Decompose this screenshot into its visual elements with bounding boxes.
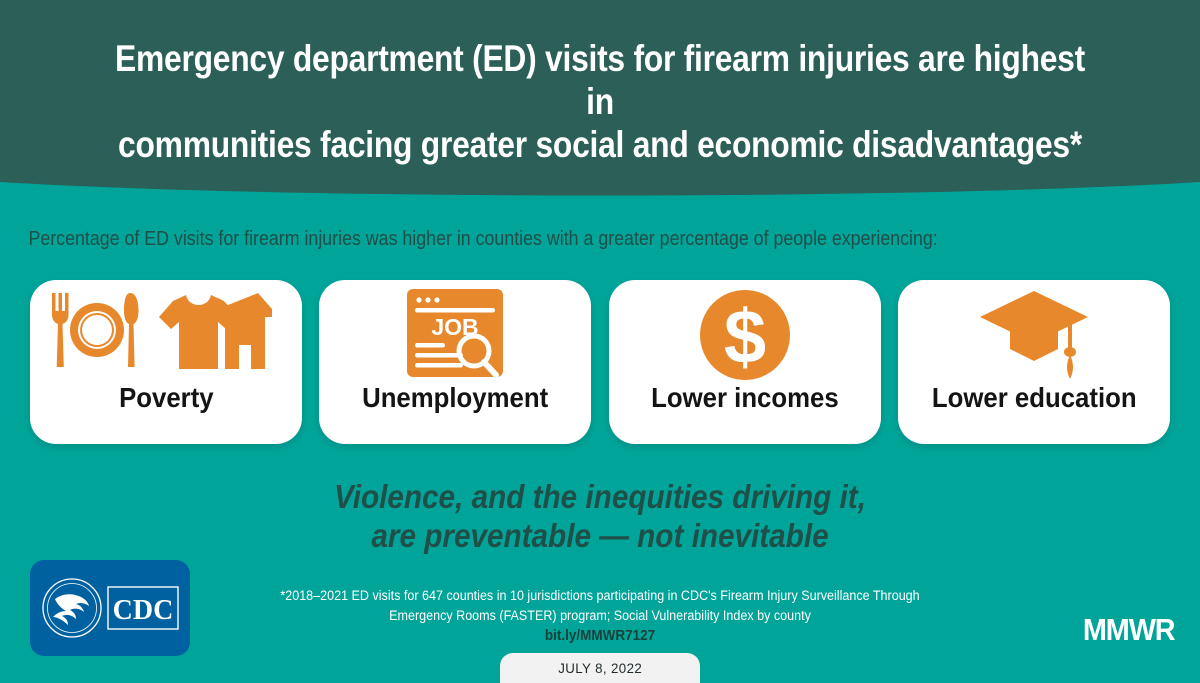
job-search-window-icon: JOB bbox=[403, 280, 507, 384]
svg-text:CDC: CDC bbox=[113, 595, 174, 626]
mmwr-wordmark: MMWR bbox=[1082, 612, 1174, 648]
date-tab: JULY 8, 2022 bbox=[500, 653, 700, 683]
dollar-coin-icon: $ bbox=[697, 280, 793, 384]
factor-card-lower-education[interactable]: Lower education bbox=[898, 280, 1170, 444]
factor-card-poverty[interactable]: Poverty bbox=[30, 280, 302, 444]
cdc-wordmark: CDC bbox=[107, 586, 179, 630]
tagline-text: Violence, and the inequities driving it,… bbox=[60, 478, 1140, 555]
subtitle-text: Percentage of ED visits for firearm inju… bbox=[0, 227, 1068, 251]
short-link[interactable]: bit.ly/MMWR7127 bbox=[265, 628, 935, 644]
factor-card-label: Poverty bbox=[119, 384, 214, 412]
header-band: Emergency department (ED) visits for fir… bbox=[0, 0, 1200, 200]
factor-card-label: Lower education bbox=[932, 384, 1137, 412]
date-tab-text: JULY 8, 2022 bbox=[558, 660, 642, 676]
factor-card-label: Lower incomes bbox=[651, 384, 839, 412]
factor-card-unemployment[interactable]: JOB Unemployment bbox=[319, 280, 591, 444]
factor-card-label: Unemployment bbox=[362, 384, 548, 412]
page-title: Emergency department (ED) visits for fir… bbox=[84, 38, 1116, 167]
hhs-seal-icon bbox=[41, 577, 103, 639]
food-clothing-shelter-icon bbox=[46, 280, 286, 384]
svg-text:$: $ bbox=[724, 295, 766, 380]
graduation-cap-icon bbox=[978, 280, 1090, 384]
cdc-hhs-logo[interactable]: CDC bbox=[30, 560, 190, 656]
factor-card-list: Poverty JOB Unemplo bbox=[30, 280, 1170, 444]
factor-card-lower-incomes[interactable]: $ Lower incomes bbox=[609, 280, 881, 444]
footnote-text: *2018–2021 ED visits for 647 counties in… bbox=[265, 586, 935, 625]
